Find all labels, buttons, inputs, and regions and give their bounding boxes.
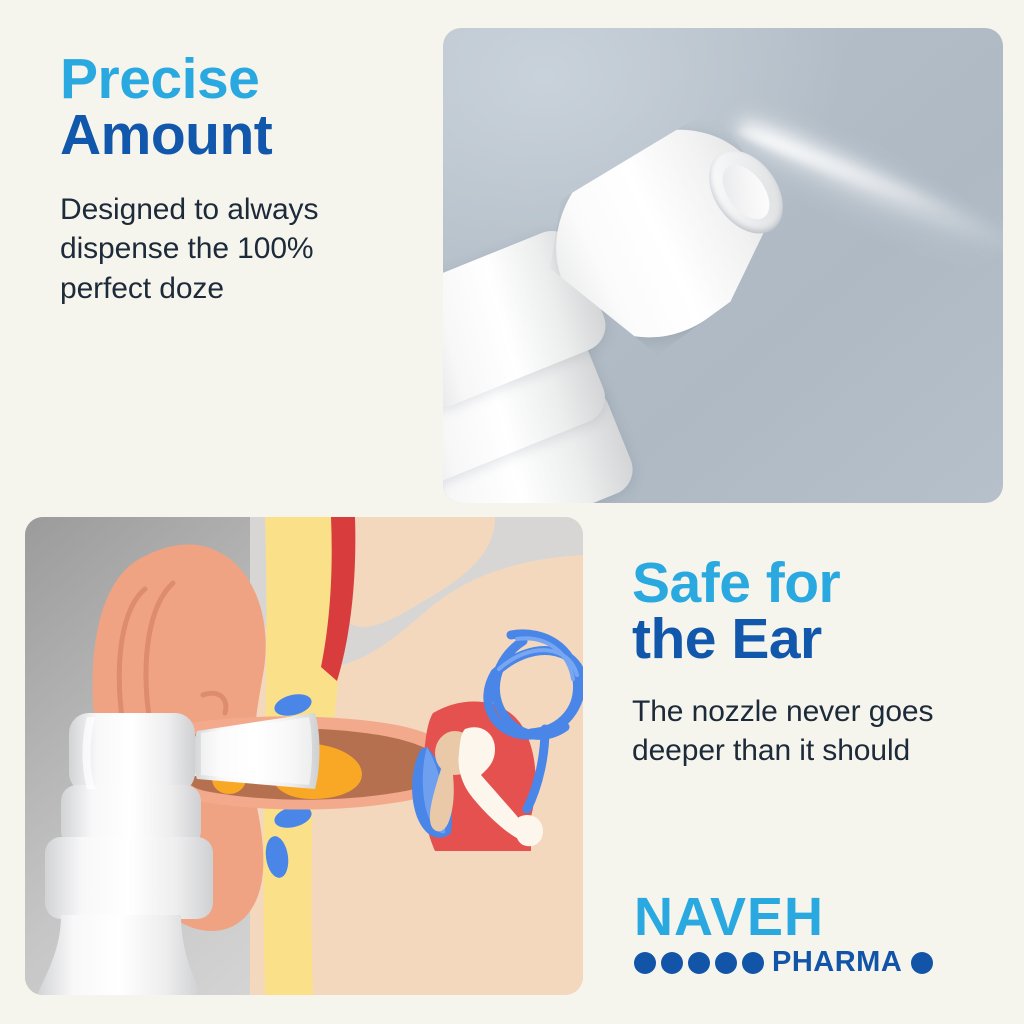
logo-dot xyxy=(715,952,737,974)
spray-nozzle-photo xyxy=(443,28,1003,503)
feature-description-safe-for-the-ear: The nozzle never goes deeper than it sho… xyxy=(632,692,962,771)
bottle-body xyxy=(37,915,201,995)
naveh-pharma-logo: NAVEH PHARMA xyxy=(634,890,924,977)
feature-block-precise-amount: Precise Amount Designed to always dispen… xyxy=(60,52,410,309)
logo-dot xyxy=(661,952,683,974)
feature-description-precise-amount: Designed to always dispense the 100% per… xyxy=(60,190,410,309)
logo-subrow: PHARMA xyxy=(634,948,924,977)
feature-block-safe-for-the-ear: Safe for the Ear The nozzle never goes d… xyxy=(632,556,962,771)
ear-anatomy-illustration xyxy=(25,517,583,995)
headline-line-1: Precise xyxy=(60,52,410,108)
bottle-collar-lower xyxy=(45,837,213,919)
headline-safe-for-the-ear: Safe for the Ear xyxy=(632,556,962,668)
logo-dot xyxy=(742,952,764,974)
logo-wordmark: NAVEH xyxy=(634,890,924,944)
logo-dot-trailing xyxy=(911,952,933,974)
logo-dot xyxy=(634,952,656,974)
headline-precise-amount: Precise Amount xyxy=(60,52,410,164)
infographic-page: Precise Amount Designed to always dispen… xyxy=(0,0,1024,1024)
ear-anatomy-diagram xyxy=(25,517,583,995)
logo-dot xyxy=(688,952,710,974)
headline-line-2: the Ear xyxy=(632,612,962,668)
headline-line-1: Safe for xyxy=(632,556,962,612)
headline-line-2: Amount xyxy=(60,108,410,164)
logo-subtext: PHARMA xyxy=(772,948,902,977)
